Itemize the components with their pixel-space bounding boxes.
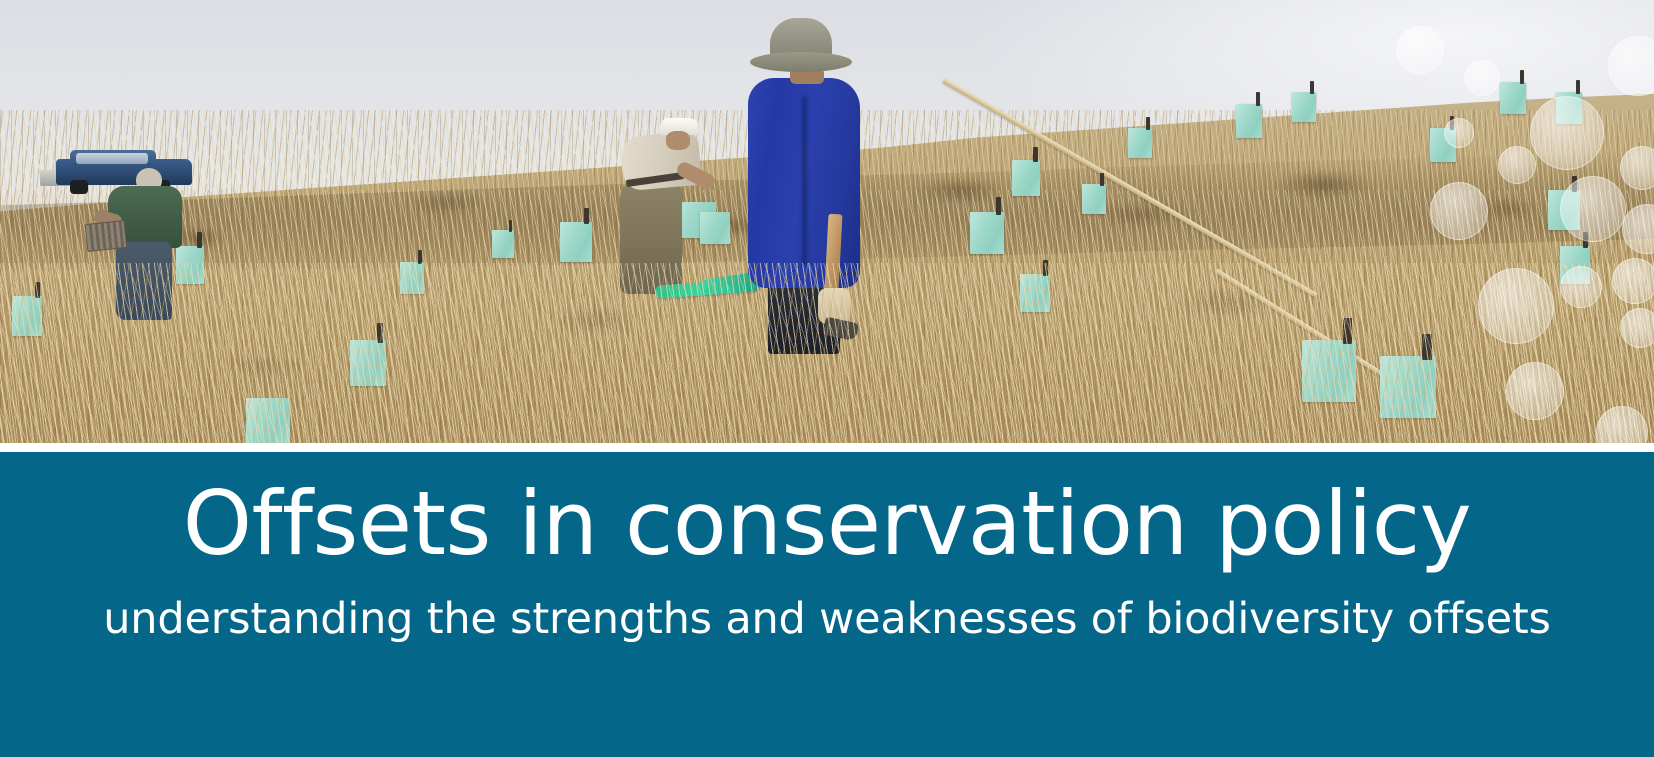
photo-banner-separator [0, 443, 1654, 452]
worker-face [666, 131, 690, 150]
cover-photograph [0, 0, 1654, 443]
page-title: Offsets in conservation policy [0, 452, 1654, 570]
worker-green-shirt [86, 168, 190, 320]
tree-guard [1548, 190, 1580, 230]
tree-guard [1560, 246, 1590, 284]
worker-blue-jacket [742, 18, 872, 354]
tree-guard [1302, 340, 1356, 402]
tree-guard [1430, 128, 1456, 162]
tree-guard [560, 222, 592, 262]
tree-guard [350, 340, 386, 386]
tree-guard [1020, 274, 1050, 312]
tree-guard [1128, 128, 1152, 158]
tree-guard [246, 398, 290, 443]
bucket-hat-brim [750, 52, 852, 72]
tree-guard [1012, 160, 1040, 196]
tree-guard [492, 230, 514, 258]
jacket-fold [802, 96, 807, 266]
tree-guard [1236, 104, 1262, 138]
worker-legs [116, 242, 172, 320]
tree-guard [1292, 92, 1316, 122]
vehicle-windows [76, 153, 148, 164]
tree-guard [1500, 82, 1526, 114]
tree-guard [970, 212, 1004, 254]
tree-guard [1082, 184, 1106, 214]
report-cover-page: Offsets in conservation policy understan… [0, 0, 1654, 757]
worker-white-cap [604, 118, 720, 294]
tree-guard [1556, 92, 1582, 124]
title-banner: Offsets in conservation policy understan… [0, 452, 1654, 757]
tree-guard [400, 262, 424, 294]
worker-legs [620, 180, 682, 294]
seedling-tray [85, 220, 128, 252]
tree-guard [1380, 356, 1436, 418]
page-subtitle: understanding the strengths and weakness… [0, 570, 1654, 643]
tree-guard [12, 296, 42, 336]
